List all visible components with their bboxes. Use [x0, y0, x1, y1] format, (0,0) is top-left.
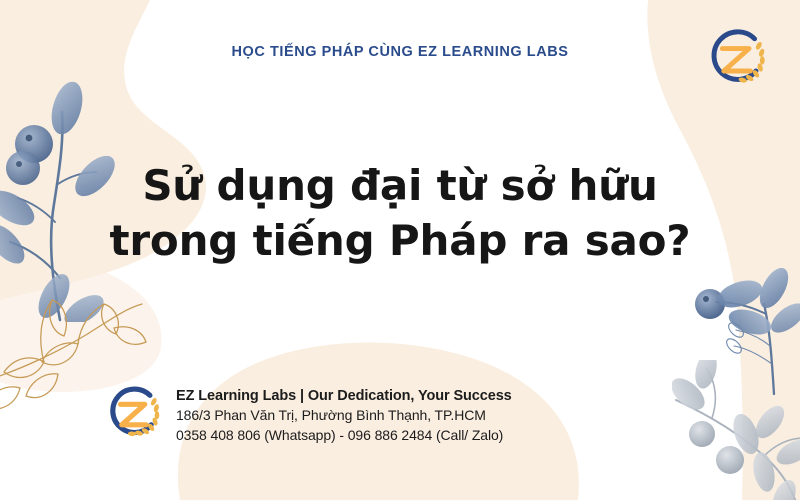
headline-line-1: Sử dụng đại từ sở hữu [0, 158, 800, 213]
header-title: HỌC TIẾNG PHÁP CÙNG EZ LEARNING LABS [0, 44, 800, 60]
brand-tagline: EZ Learning Labs | Our Dedication, Your … [176, 386, 512, 406]
headline-line-2: trong tiếng Pháp ra sao? [0, 213, 800, 268]
logo-bottom-left [100, 380, 164, 444]
contact-line: 0358 408 806 (Whatsapp) - 096 886 2484 (… [176, 426, 512, 446]
address-line: 186/3 Phan Văn Trị, Phường Bình Thạnh, T… [176, 406, 512, 426]
page-title: Sử dụng đại từ sở hữu trong tiếng Pháp r… [0, 158, 800, 269]
gray-berry-branch-icon [672, 360, 800, 500]
banner-canvas: HỌC TIẾNG PHÁP CÙNG EZ LEARNING LABS Sử … [0, 0, 800, 500]
logo-top-right [700, 22, 770, 92]
footer-contact-block: EZ Learning Labs | Our Dedication, Your … [100, 378, 620, 448]
footer-text-block: EZ Learning Labs | Our Dedication, Your … [176, 378, 512, 446]
